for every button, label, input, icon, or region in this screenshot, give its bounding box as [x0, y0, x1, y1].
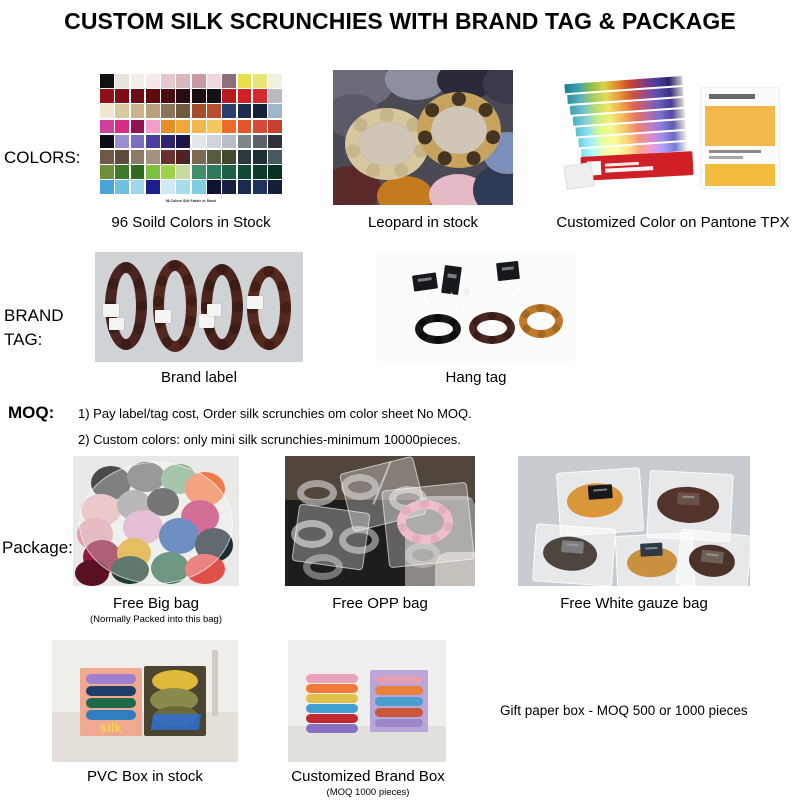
free-big-bag-photo	[73, 456, 239, 586]
caption-free-big-bag: Free Big bag	[73, 595, 239, 612]
color-swatch	[253, 104, 267, 118]
color-swatch	[115, 150, 129, 164]
color-swatch	[146, 135, 160, 149]
color-swatch	[253, 89, 267, 103]
subcaption-customized-brand-box: (MOQ 1000 pieces)	[278, 787, 458, 798]
color-swatch	[146, 89, 160, 103]
color-swatch	[268, 89, 282, 103]
color-swatch	[100, 89, 114, 103]
color-swatch	[268, 120, 282, 134]
free-white-gauze-bag-photo	[518, 456, 750, 586]
color-swatch	[207, 165, 221, 179]
color-swatch	[176, 150, 190, 164]
hang-tag-scrunchies-photo	[377, 252, 575, 362]
row-label-package: Package:	[2, 538, 73, 558]
color-swatch	[207, 104, 221, 118]
color-swatch	[238, 180, 252, 194]
color-swatch	[131, 120, 145, 134]
color-swatch	[115, 104, 129, 118]
color-swatch	[161, 180, 175, 194]
color-swatch	[161, 104, 175, 118]
color-swatch	[192, 150, 206, 164]
color-swatch	[268, 150, 282, 164]
customized-brand-box-photo	[288, 640, 446, 762]
color-swatch	[176, 135, 190, 149]
color-swatch	[192, 74, 206, 88]
color-swatch	[222, 89, 236, 103]
color-swatch	[115, 165, 129, 179]
moq-line-2: 2) Custom colors: only mini silk scrunch…	[78, 432, 461, 447]
color-swatch	[268, 74, 282, 88]
pantone-color-guide-text	[605, 166, 653, 173]
color-swatch	[238, 89, 252, 103]
color-swatch	[238, 104, 252, 118]
leopard-scrunchies-photo	[333, 70, 513, 205]
color-swatch	[253, 120, 267, 134]
caption-hang-tag: Hang tag	[377, 369, 575, 386]
color-swatch	[161, 74, 175, 88]
color-swatch	[161, 120, 175, 134]
color-swatch	[115, 120, 129, 134]
color-swatch	[268, 180, 282, 194]
moq-line-1: 1) Pay label/tag cost, Order silk scrunc…	[78, 406, 472, 421]
color-swatch	[146, 120, 160, 134]
color-swatch	[222, 180, 236, 194]
color-swatch	[238, 74, 252, 88]
color-swatch	[161, 165, 175, 179]
color-swatch	[131, 150, 145, 164]
color-swatch	[192, 180, 206, 194]
caption-solid-colors: 96 Soild Colors in Stock	[96, 214, 286, 231]
color-swatch	[207, 150, 221, 164]
pvc-box-label-text: silk	[90, 720, 132, 732]
color-swatch	[146, 150, 160, 164]
caption-pvc-box: PVC Box in stock	[52, 768, 238, 785]
color-swatch	[268, 104, 282, 118]
product-spec-sheet: CUSTOM SILK SCRUNCHIES WITH BRAND TAG & …	[0, 0, 800, 800]
color-swatch	[131, 74, 145, 88]
row-label-moq: MOQ:	[8, 403, 54, 423]
row-label-colors: COLORS:	[4, 148, 81, 168]
color-swatch	[100, 104, 114, 118]
solid-colors-swatch-chart: 96 Colors Silk Fabric in Stock	[96, 70, 286, 205]
color-swatch	[222, 74, 236, 88]
row-label-brand-tag-line1: BRAND	[4, 306, 64, 326]
swatch-chart-inner-caption: 96 Colors Silk Fabric in Stock	[96, 199, 286, 203]
color-swatch	[100, 120, 114, 134]
color-swatch	[253, 180, 267, 194]
color-swatch	[253, 74, 267, 88]
pvc-box-photo: silk	[52, 640, 238, 762]
color-swatch	[176, 165, 190, 179]
caption-customized-brand-box: Customized Brand Box	[278, 768, 458, 785]
row-label-brand-tag-line2: TAG:	[4, 330, 42, 350]
color-swatch	[131, 135, 145, 149]
color-swatch	[146, 104, 160, 118]
color-swatch	[192, 165, 206, 179]
color-swatch	[131, 180, 145, 194]
color-swatch	[207, 89, 221, 103]
subcaption-free-big-bag: (Normally Packed into this bag)	[73, 614, 239, 625]
color-swatch	[176, 104, 190, 118]
color-swatch	[238, 120, 252, 134]
color-swatch	[222, 120, 236, 134]
color-swatch	[115, 135, 129, 149]
color-swatch	[238, 135, 252, 149]
color-swatch	[176, 89, 190, 103]
color-swatch	[253, 165, 267, 179]
color-swatch	[222, 150, 236, 164]
color-swatch	[115, 74, 129, 88]
color-swatch	[161, 89, 175, 103]
color-swatch	[131, 89, 145, 103]
color-swatch	[192, 104, 206, 118]
color-swatch	[100, 180, 114, 194]
brand-label-scrunchies-photo	[95, 252, 303, 362]
color-swatch	[146, 74, 160, 88]
caption-leopard: Leopard in stock	[333, 214, 513, 231]
color-swatch	[222, 135, 236, 149]
color-swatch	[100, 165, 114, 179]
color-swatch	[131, 104, 145, 118]
color-swatch	[253, 135, 267, 149]
color-swatch	[192, 135, 206, 149]
color-swatch	[222, 165, 236, 179]
color-swatch	[207, 120, 221, 134]
color-swatch	[207, 135, 221, 149]
caption-pantone: Customized Color on Pantone TPX	[533, 214, 800, 231]
color-swatch	[115, 180, 129, 194]
pantone-fan-deck-photo	[553, 70, 793, 205]
color-swatch	[131, 165, 145, 179]
color-swatch	[192, 89, 206, 103]
swatch-grid	[100, 74, 282, 194]
color-swatch	[268, 165, 282, 179]
color-swatch	[161, 135, 175, 149]
color-swatch	[268, 135, 282, 149]
pantone-chip-card	[701, 88, 779, 188]
color-swatch	[100, 74, 114, 88]
color-swatch	[100, 135, 114, 149]
color-swatch	[176, 120, 190, 134]
caption-brand-label: Brand label	[95, 369, 303, 386]
page-title: CUSTOM SILK SCRUNCHIES WITH BRAND TAG & …	[0, 8, 800, 35]
color-swatch	[115, 89, 129, 103]
color-swatch	[192, 120, 206, 134]
color-swatch	[207, 180, 221, 194]
color-swatch	[100, 150, 114, 164]
color-swatch	[146, 165, 160, 179]
caption-free-white-gauze-bag: Free White gauze bag	[518, 595, 750, 612]
color-swatch	[146, 180, 160, 194]
free-opp-bag-photo	[285, 456, 475, 586]
color-swatch	[176, 180, 190, 194]
color-swatch	[207, 74, 221, 88]
gift-paper-box-note: Gift paper box - MOQ 500 or 1000 pieces	[500, 703, 748, 718]
color-swatch	[161, 150, 175, 164]
color-swatch	[238, 165, 252, 179]
caption-free-opp-bag: Free OPP bag	[285, 595, 475, 612]
color-swatch	[222, 104, 236, 118]
color-swatch	[253, 150, 267, 164]
color-swatch	[238, 150, 252, 164]
color-swatch	[176, 74, 190, 88]
